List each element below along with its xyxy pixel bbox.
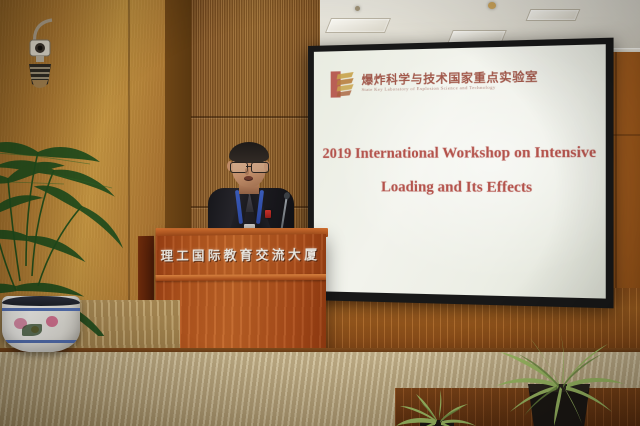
stage-riser-front — [395, 388, 640, 426]
explosion-lab-logo-icon — [330, 69, 356, 100]
projection-screen-frame: 爆炸科学与技术国家重点实验室 State Key Laboratory of E… — [308, 38, 614, 309]
podium-sign-text: 理工国际教育交流大厦 — [155, 244, 326, 264]
planter-rim — [2, 296, 80, 306]
lapel-pin-icon — [265, 210, 271, 218]
speaker-hair — [229, 142, 269, 163]
wall-mounted-camera-icon — [22, 18, 74, 96]
planter-blue-band — [2, 340, 80, 343]
ceiling-spotlight-icon — [488, 2, 496, 9]
ceiling-sprinkler-icon — [355, 6, 360, 11]
glasses-bridge — [246, 166, 251, 167]
slide-title: 2019 International Workshop on Intensive… — [314, 136, 606, 205]
speaker — [196, 140, 306, 238]
slide-logo-cn: 爆炸科学与技术国家重点实验室 — [362, 71, 539, 86]
glasses-lens — [251, 162, 269, 173]
planter-leaf-motif — [22, 324, 42, 336]
blue-white-porcelain-planter — [2, 296, 80, 352]
slide-title-line1: 2019 International Workshop on Intensive — [322, 144, 596, 162]
podium-trim-molding — [155, 274, 326, 281]
ceiling-light-icon — [325, 18, 391, 33]
slide-logo: 爆炸科学与技术国家重点实验室 State Key Laboratory of E… — [330, 65, 539, 100]
slide-logo-en: State Key Laboratory of Explosion Scienc… — [362, 85, 539, 93]
conference-photo-scene: 爆炸科学与技术国家重点实验室 State Key Laboratory of E… — [0, 0, 640, 426]
glasses-icon — [229, 162, 269, 171]
projection-screen: 爆炸科学与技术国家重点实验室 State Key Laboratory of E… — [314, 44, 606, 298]
ceiling-light-icon — [526, 9, 581, 21]
speaker-nose — [245, 168, 249, 175]
speaker-mouth — [244, 176, 253, 181]
planter-flower-motif — [46, 316, 58, 327]
planter-blue-band — [2, 308, 80, 311]
slide-title-line2: Loading and Its Effects — [314, 170, 606, 205]
panel-seam — [180, 116, 320, 118]
